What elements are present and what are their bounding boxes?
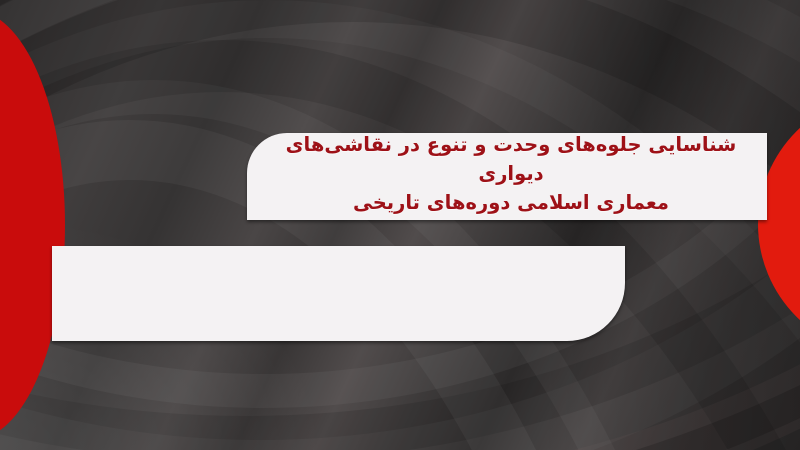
page-title: شناسایی جلوه‌های وحدت و تنوع در نقاشی‌ها… xyxy=(247,130,767,224)
slide-canvas: شناسایی جلوه‌های وحدت و تنوع در نقاشی‌ها… xyxy=(0,0,800,450)
subtitle-text xyxy=(52,246,625,266)
subtitle-panel xyxy=(52,246,625,341)
title-panel: شناسایی جلوه‌های وحدت و تنوع در نقاشی‌ها… xyxy=(247,133,767,220)
